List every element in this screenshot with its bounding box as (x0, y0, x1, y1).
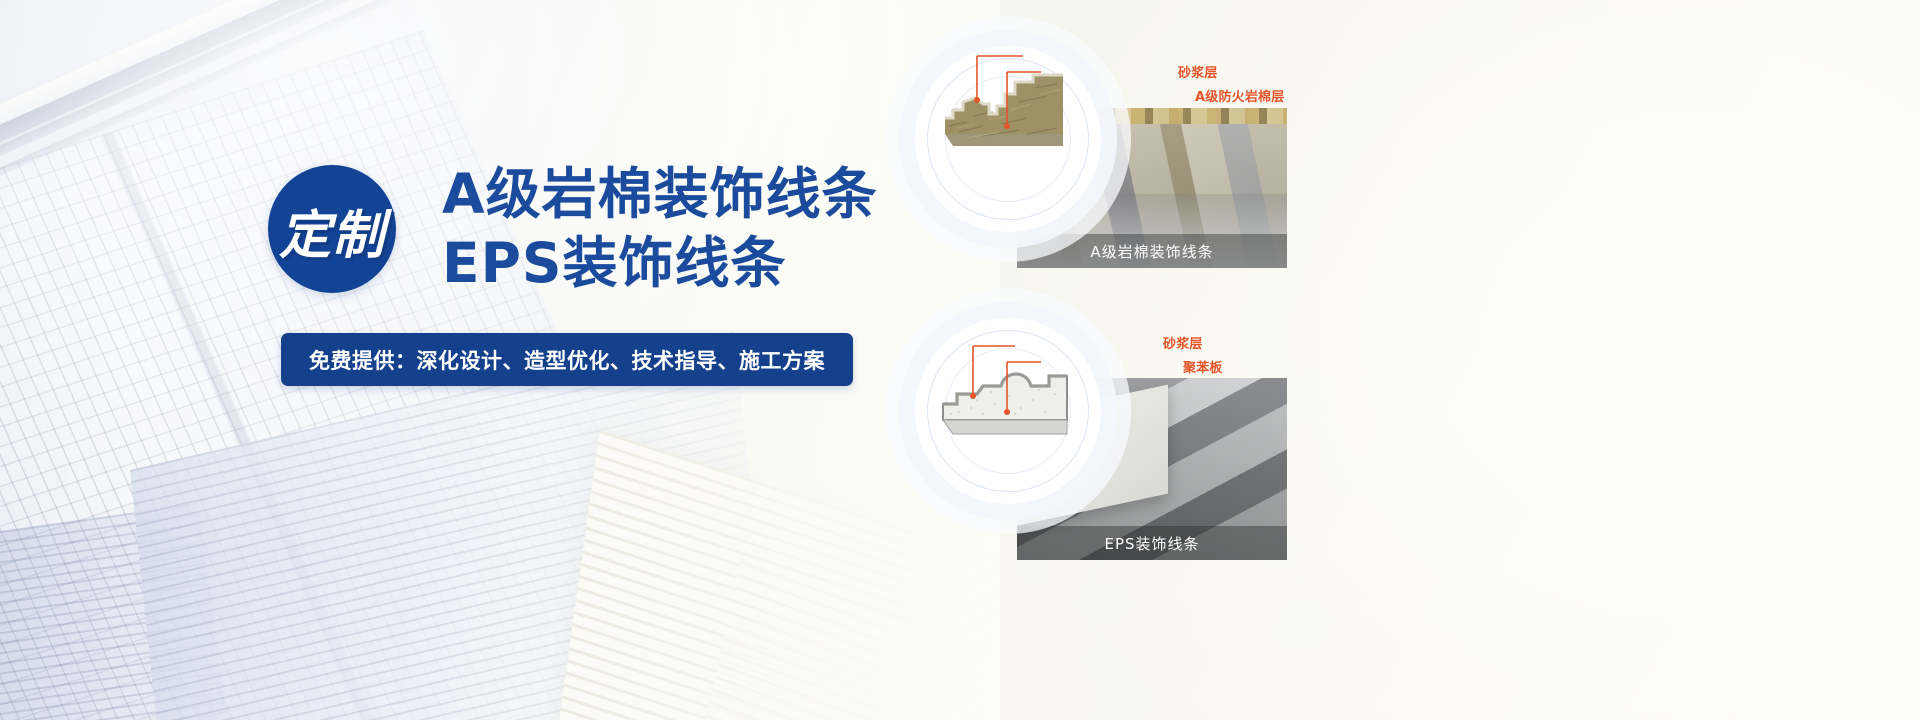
rockwool-bottom-face (945, 134, 1063, 146)
free-services-bar: 免费提供：深化设计、造型优化、技术指导、施工方案 (281, 333, 853, 386)
product-card-eps: EPS装饰线条 (905, 300, 1325, 610)
product-card-rockwool: A级岩棉装饰线条 砂浆层 A级防火岩棉层 (905, 18, 1325, 318)
custom-badge-label: 定制 (279, 193, 385, 268)
free-services-text: 免费提供：深化设计、造型优化、技术指导、施工方案 (309, 345, 825, 375)
callout-label-polystyrene-board: 聚苯板 (1183, 357, 1223, 376)
product-photo-label-rockwool: A级岩棉装饰线条 (1017, 234, 1287, 268)
callout-label-mortar-layer-eps: 砂浆层 (1163, 333, 1203, 352)
callout-dot-mortar-eps (970, 393, 976, 399)
eps-bottom-face (943, 420, 1067, 434)
headline-line-2: EPS装饰线条 (442, 229, 878, 298)
callout-label-mortar-layer-rockwool: 砂浆层 (1178, 62, 1218, 81)
callout-dot-polystyrene (1004, 409, 1010, 415)
custom-badge: 定制 (268, 165, 396, 293)
rockwool-cross-section-diagram (923, 42, 1103, 218)
eps-cross-section-diagram (923, 324, 1103, 500)
callout-dot-rockwool (1004, 123, 1010, 129)
secondary-building-slab (130, 331, 778, 720)
headline-line-1: A级岩棉装饰线条 (442, 160, 878, 229)
skyscraper-roof-edge (0, 0, 437, 166)
glass-tower-sliver (0, 503, 240, 720)
headline-lines: A级岩棉装饰线条 EPS装饰线条 (442, 160, 878, 298)
product-photo-label-eps: EPS装饰线条 (1017, 526, 1287, 560)
headline-block: 定制 A级岩棉装饰线条 EPS装饰线条 (268, 160, 878, 298)
callout-dot-mortar (974, 97, 980, 103)
promo-banner: 定制 A级岩棉装饰线条 EPS装饰线条 免费提供：深化设计、造型优化、技术指导、… (0, 0, 1920, 720)
callout-label-rockwool-layer: A级防火岩棉层 (1195, 86, 1284, 105)
